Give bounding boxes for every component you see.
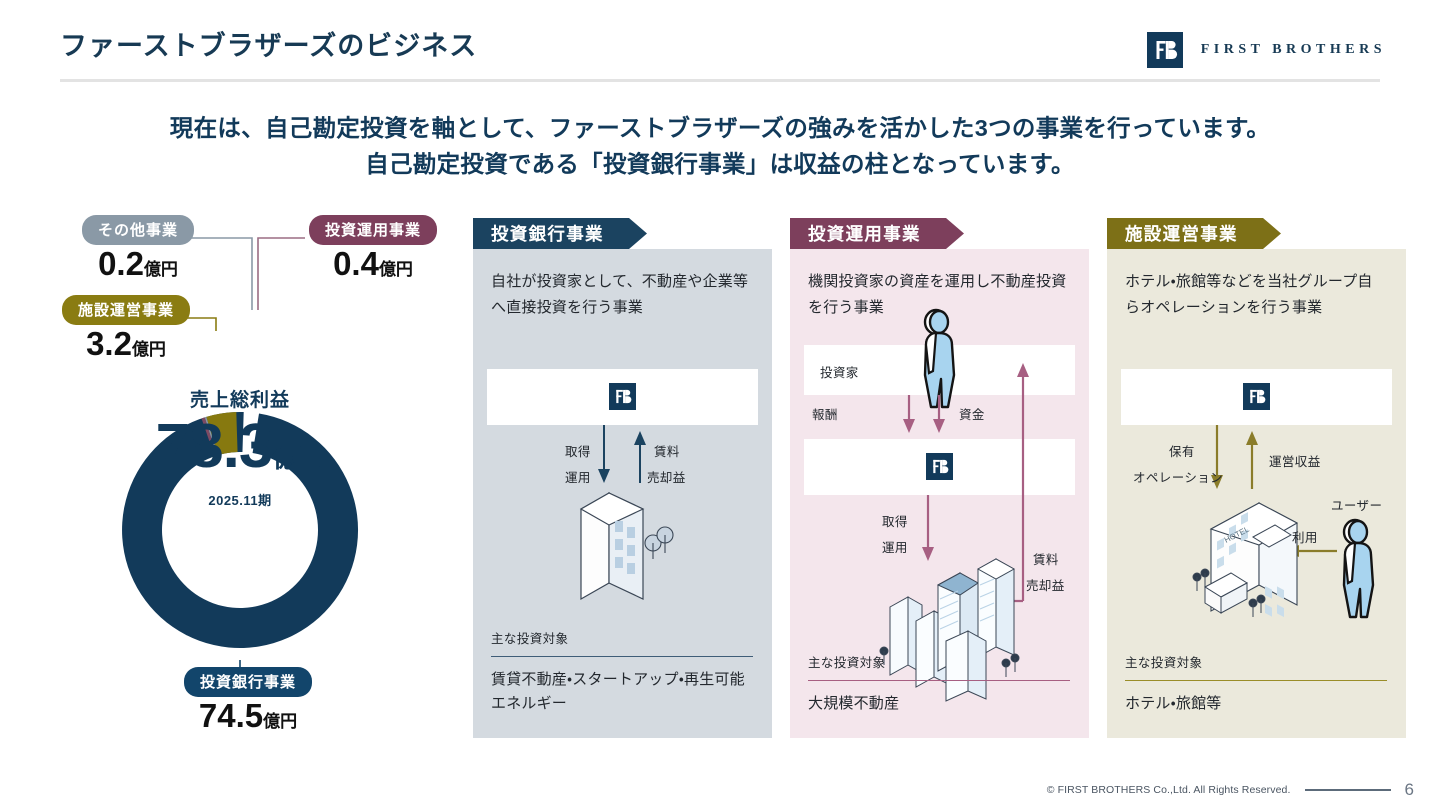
donut-total-number: 78.3	[156, 412, 273, 481]
callout-ibank-label: 投資銀行事業	[184, 667, 312, 697]
flow-label-rent-1: 賃料	[654, 441, 680, 460]
footer-value-1: 賃貸不動産・スタートアップ・再生可能エネルギー	[491, 668, 753, 716]
footer-divider-1	[491, 656, 753, 657]
footer-divider	[1305, 789, 1391, 791]
callout-asset-value: 0.4	[333, 245, 379, 282]
callout-investment-bank: 投資銀行事業 74.5億円	[148, 667, 348, 734]
brand-name: FIRST BROTHERS	[1201, 42, 1386, 58]
callout-asset-label: 投資運用事業	[309, 215, 437, 245]
callout-asset-amount: 0.4億円	[278, 247, 468, 282]
flow-label-operation-3: オペレーション	[1133, 467, 1223, 486]
copyright-text: © FIRST BROTHERS Co.,Ltd. All Rights Res…	[1047, 784, 1291, 796]
callout-asset-unit: 億円	[379, 260, 413, 279]
fb-logo-icon	[1147, 32, 1183, 68]
page-title: ファーストブラザーズのビジネス	[60, 24, 477, 63]
label-fee-2: 報酬	[812, 404, 838, 423]
callout-asset-management: 投資運用事業 0.4億円	[278, 215, 468, 282]
card-tag-facility-operation: 施設運営事業	[1107, 218, 1299, 249]
label-investor-2: 投資家	[820, 362, 859, 381]
donut-period: 2025.11期	[130, 490, 350, 509]
flow-label-hold-3: 保有	[1169, 441, 1195, 460]
label-user-3: ユーザー	[1331, 495, 1382, 514]
callout-ibank-amount: 74.5億円	[148, 699, 348, 734]
page-header: ファーストブラザーズのビジネス FIRST BROTHERS	[0, 0, 1440, 88]
card-investment-bank: 投資銀行事業 自社が投資家として、不動産や企業等へ直接投資を行う事業	[473, 218, 772, 738]
donut-center-title: 売上総利益	[130, 385, 350, 412]
gross-profit-donut-chart: 売上総利益 78.3億円 2025.11期 その他事業 0.2億円 投資運用事業…	[20, 205, 460, 750]
callout-facility: 施設運営事業 3.2億円	[36, 295, 216, 362]
header-divider	[60, 79, 1380, 82]
flow-label-gain-2: 売却益	[1026, 575, 1065, 594]
footer-caption-1: 主な投資対象	[491, 628, 753, 647]
callout-other-label: その他事業	[82, 215, 194, 245]
callout-ibank-value: 74.5	[199, 697, 263, 734]
lead-copy: 現在は、自己勘定投資を軸として、ファーストブラザーズの強みを活かした3つの事業を…	[0, 110, 1440, 183]
card-footer-3: 主な投資対象 ホテル・旅館等	[1125, 652, 1387, 716]
callout-facility-unit: 億円	[132, 340, 166, 359]
callout-other-amount: 0.2億円	[48, 247, 228, 282]
brand-logo: FIRST BROTHERS	[1147, 32, 1386, 68]
flow-label-gain-1: 売却益	[647, 467, 686, 486]
footer-caption-3: 主な投資対象	[1125, 652, 1387, 671]
investor-person-icon	[925, 310, 954, 407]
user-person-icon	[1344, 520, 1373, 617]
card-tag-asset-management: 投資運用事業	[790, 218, 982, 249]
card-body-asset-management: 機関投資家の資産を運用し不動産投資を行う事業	[790, 249, 1089, 738]
donut-total-unit: 億円	[272, 443, 324, 473]
footer-value-2: 大規模不動産	[808, 692, 1070, 716]
donut-center-value: 78.3億円	[130, 416, 350, 478]
label-use-3: 利用	[1292, 527, 1318, 546]
callout-facility-amount: 3.2億円	[36, 327, 216, 362]
lead-line-2: 自己勘定投資である「投資銀行事業」は収益の柱となっています。	[0, 146, 1440, 182]
flow-label-revenue-3: 運営収益	[1269, 451, 1321, 470]
footer-value-3: ホテル・旅館等	[1125, 692, 1387, 716]
card-footer-1: 主な投資対象 賃貸不動産・スタートアップ・再生可能エネルギー	[491, 628, 753, 716]
flow-label-operate-2: 運用	[882, 537, 908, 556]
footer-caption-2: 主な投資対象	[808, 652, 1070, 671]
flow-label-acquire-2: 取得	[882, 511, 908, 530]
flow-label-rent-2: 賃料	[1033, 549, 1059, 568]
card-facility-operation: 施設運営事業 ホテル・旅館等などを当社グループ自らオペレーションを行う事業	[1107, 218, 1406, 738]
page-footer: © FIRST BROTHERS Co.,Ltd. All Rights Res…	[1047, 780, 1414, 800]
callout-other: その他事業 0.2億円	[48, 215, 228, 282]
flow-label-acquire-1: 取得	[565, 441, 591, 460]
donut-center-label: 売上総利益 78.3億円 2025.11期	[130, 385, 350, 509]
card-body-facility-operation: ホテル・旅館等などを当社グループ自らオペレーションを行う事業	[1107, 249, 1406, 738]
card-footer-2: 主な投資対象 大規模不動産	[808, 652, 1070, 716]
building-icon	[581, 493, 673, 599]
callout-other-value: 0.2	[98, 245, 144, 282]
card-asset-management: 投資運用事業 機関投資家の資産を運用し不動産投資を行う事業	[790, 218, 1089, 738]
hotel-icon: HOTEL	[1193, 503, 1297, 617]
page-number: 6	[1405, 780, 1414, 800]
callout-facility-value: 3.2	[86, 325, 132, 362]
card-tag-investment-bank: 投資銀行事業	[473, 218, 665, 249]
lead-line-1: 現在は、自己勘定投資を軸として、ファーストブラザーズの強みを活かした3つの事業を…	[0, 110, 1440, 146]
callout-ibank-unit: 億円	[263, 712, 297, 731]
footer-divider-3	[1125, 680, 1387, 681]
card-body-investment-bank: 自社が投資家として、不動産や企業等へ直接投資を行う事業	[473, 249, 772, 738]
footer-divider-2	[808, 680, 1070, 681]
flow-label-operate-1: 運用	[565, 467, 591, 486]
callout-other-unit: 億円	[144, 260, 178, 279]
callout-facility-label: 施設運営事業	[62, 295, 190, 325]
label-fund-2: 資金	[959, 404, 985, 423]
